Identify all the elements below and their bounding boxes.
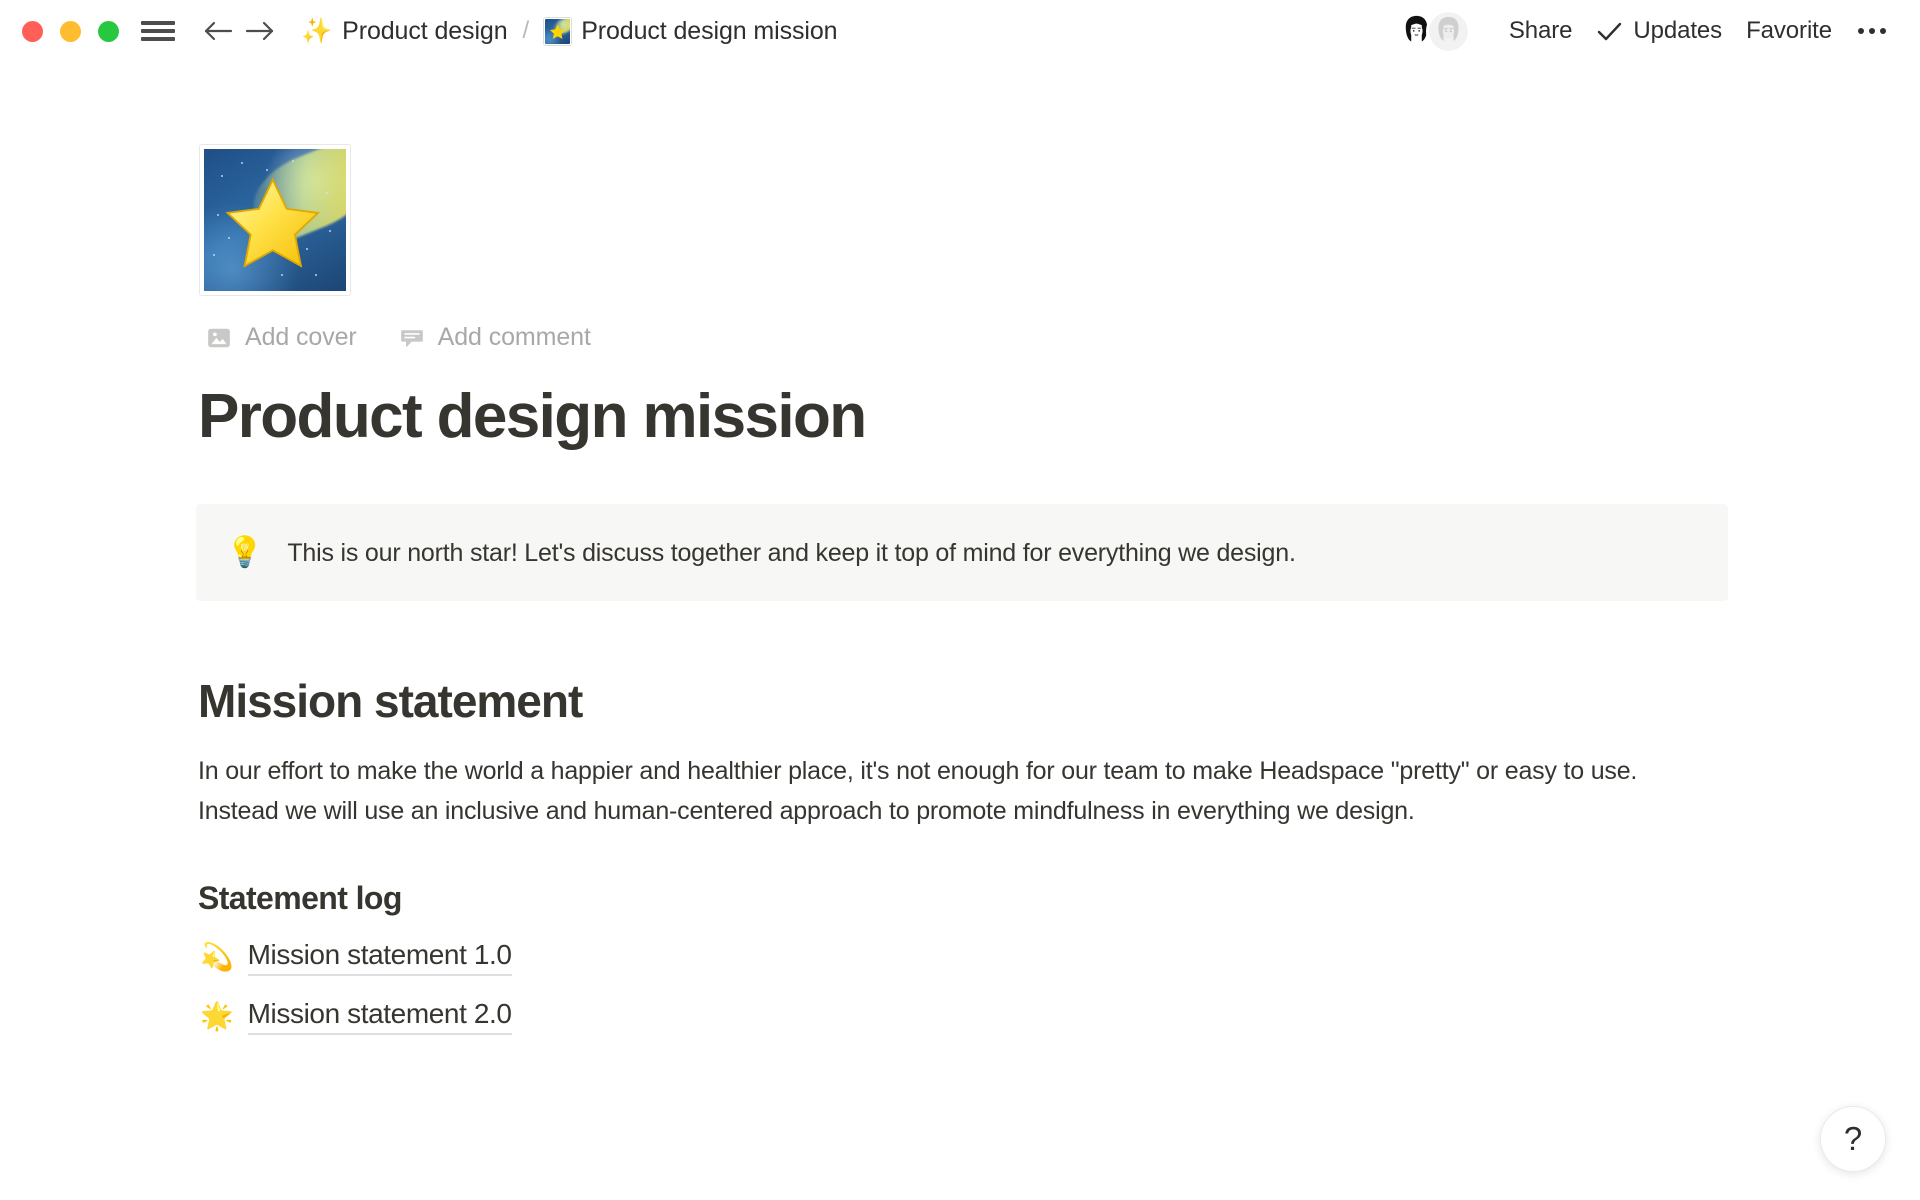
share-label: Share — [1509, 17, 1573, 45]
breadcrumb-separator: / — [523, 17, 530, 45]
breadcrumb-label: Product design mission — [581, 17, 837, 46]
add-comment-label: Add comment — [438, 323, 591, 352]
page-meta-actions: Add cover Add comment — [192, 319, 1728, 356]
breadcrumb-label: Product design — [342, 17, 507, 46]
share-button[interactable]: Share — [1497, 11, 1585, 51]
shooting-star-icon — [544, 18, 571, 45]
link-mission-statement-1[interactable]: Mission statement 1.0 — [248, 939, 512, 976]
page-body: Add cover Add comment Product design mis… — [0, 62, 1920, 1200]
page-icon-container — [192, 62, 1728, 295]
window-titlebar: ✨ Product design / Product design missio… — [0, 0, 1920, 62]
arrow-left-icon[interactable] — [197, 10, 239, 52]
zoom-window-button[interactable] — [98, 21, 119, 42]
check-icon — [1596, 20, 1623, 42]
favorite-label: Favorite — [1746, 17, 1832, 45]
callout-block[interactable]: 💡 This is our north star! Let's discuss … — [196, 504, 1728, 601]
glowing-star-icon: 🌟 — [200, 1003, 234, 1030]
close-window-button[interactable] — [22, 21, 43, 42]
hamburger-icon[interactable] — [141, 18, 175, 44]
titlebar-actions: Share Updates Favorite — [1394, 9, 1900, 54]
image-icon — [206, 325, 232, 351]
favorite-button[interactable]: Favorite — [1734, 11, 1844, 51]
minimize-window-button[interactable] — [60, 21, 81, 42]
page-title[interactable]: Product design mission — [192, 383, 1728, 451]
ellipsis-icon[interactable] — [1844, 18, 1900, 44]
arrow-right-icon[interactable] — [239, 10, 281, 52]
avatar-group[interactable] — [1394, 9, 1471, 54]
add-cover-label: Add cover — [245, 323, 357, 352]
section-heading-mission-statement[interactable]: Mission statement — [192, 675, 1728, 728]
list-item[interactable]: 💫 Mission statement 1.0 — [192, 939, 1728, 976]
page-icon-shooting-star[interactable] — [200, 145, 350, 295]
avatar-user-2[interactable] — [1426, 9, 1471, 54]
comment-icon — [399, 325, 425, 351]
sparkles-icon: ✨ — [301, 19, 332, 44]
updates-button[interactable]: Updates — [1584, 11, 1734, 51]
breadcrumb-item-product-design-mission[interactable]: Product design mission — [540, 14, 841, 49]
updates-label: Updates — [1633, 17, 1722, 45]
window-controls — [22, 21, 119, 42]
page-content: Add cover Add comment Product design mis… — [192, 62, 1728, 1035]
list-item[interactable]: 🌟 Mission statement 2.0 — [192, 998, 1728, 1035]
breadcrumb-item-product-design[interactable]: ✨ Product design — [297, 14, 512, 49]
callout-text: This is our north star! Let's discuss to… — [287, 535, 1295, 571]
subheading-statement-log[interactable]: Statement log — [192, 879, 1728, 917]
lightbulb-icon: 💡 — [226, 538, 263, 568]
add-comment-button[interactable]: Add comment — [393, 319, 597, 356]
breadcrumb: ✨ Product design / Product design missio… — [297, 14, 841, 49]
help-button[interactable]: ? — [1820, 1106, 1886, 1172]
add-cover-button[interactable]: Add cover — [200, 319, 363, 356]
mission-statement-paragraph[interactable]: In our effort to make the world a happie… — [192, 752, 1682, 831]
link-mission-statement-2[interactable]: Mission statement 2.0 — [248, 998, 512, 1035]
dizzy-star-icon: 💫 — [200, 944, 234, 971]
